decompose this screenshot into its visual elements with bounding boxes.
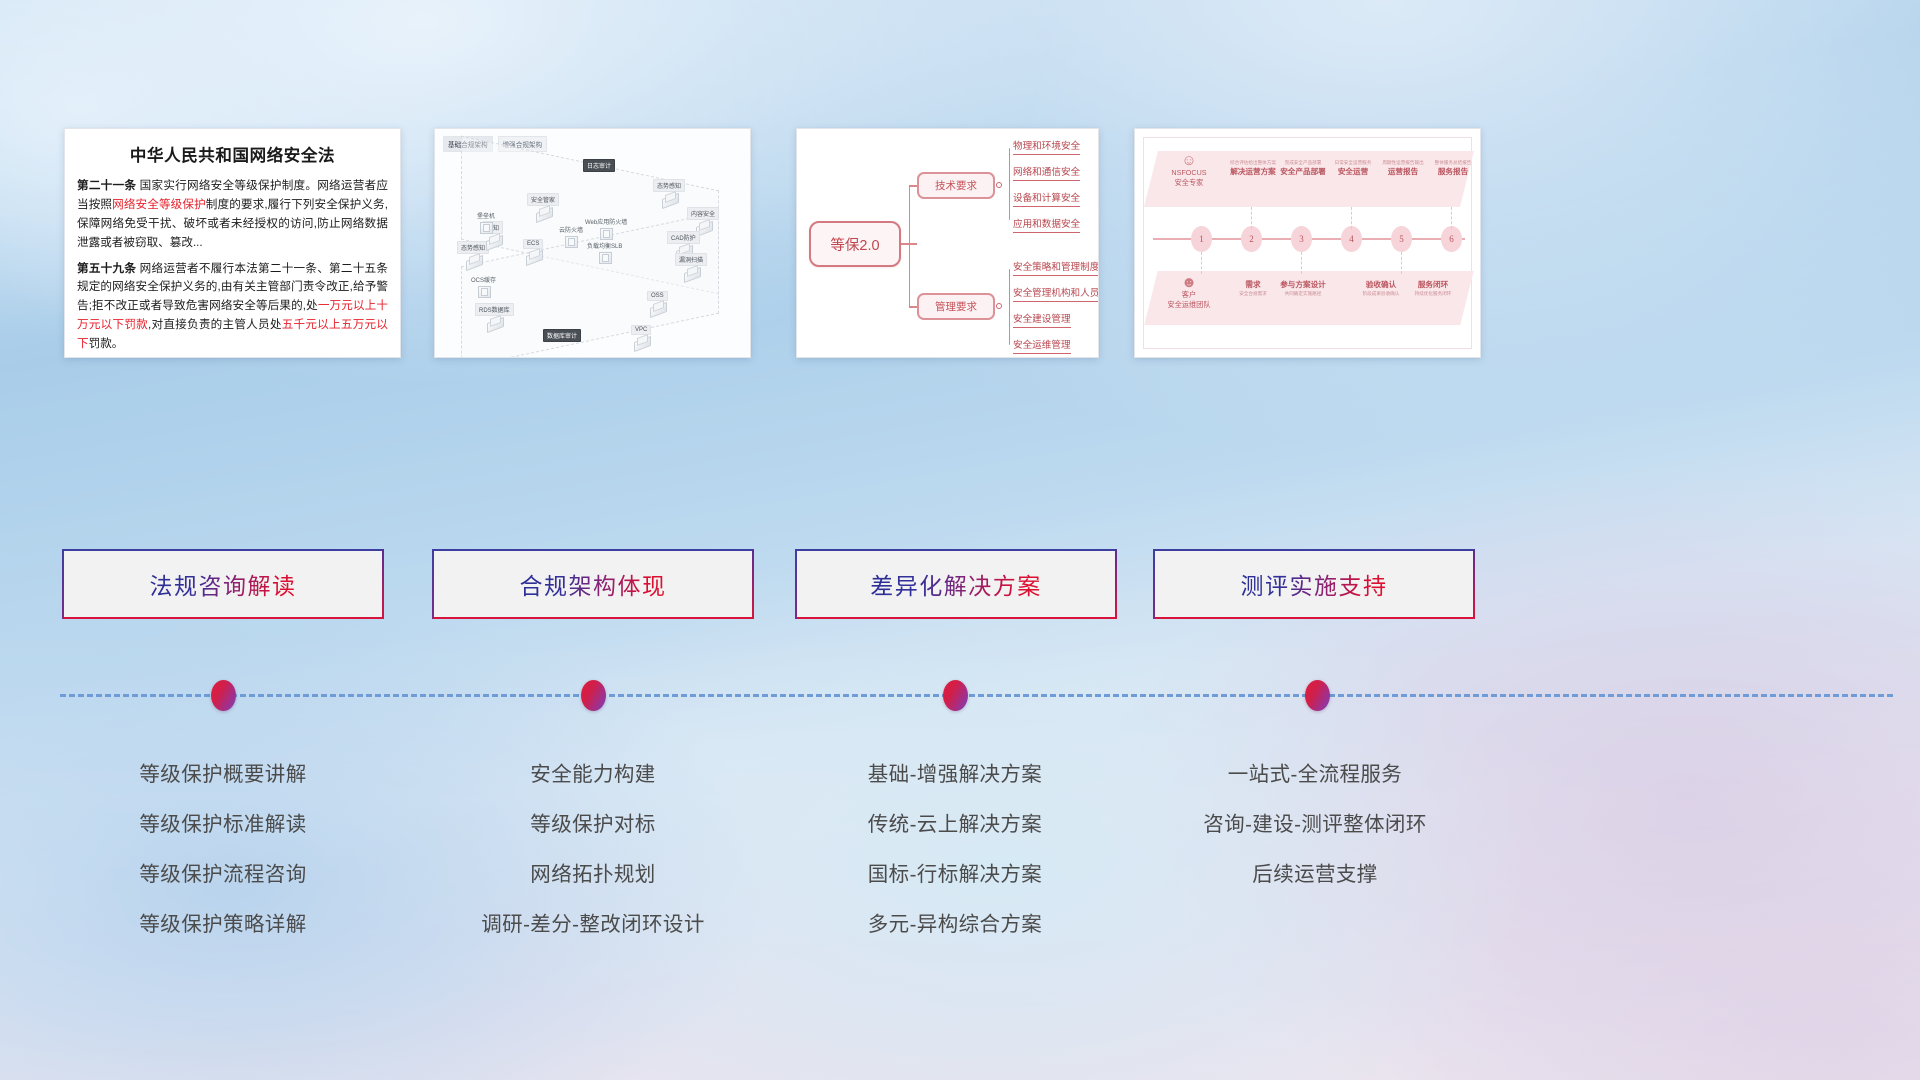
timeline-step-stem [1301, 252, 1302, 274]
detail-item: 网络拓扑规划 [428, 850, 758, 900]
cloud-cube-icon [466, 255, 481, 266]
timeline-step-title: 需求 [1227, 279, 1279, 290]
cloud-cube-icon [536, 207, 551, 218]
architecture-node: VPC [631, 325, 651, 347]
mindmap-root-node: 等保2.0 [809, 221, 901, 267]
mindmap-leaf: 网络和通信安全 [1013, 167, 1080, 181]
detail-item: 等级保护标准解读 [58, 800, 388, 850]
cloud-cube-icon [650, 302, 665, 313]
timeline-step-title: 参与方案设计 [1277, 279, 1329, 290]
architecture-node-label: 云防火墙 [559, 225, 583, 234]
architecture-node-label: RDS数据库 [475, 303, 514, 316]
card-service-timeline[interactable]: ☺ NSFOCUS 安全专家 ☻ 客户 安全运维团队 综合评估给出整体方案解决运… [1134, 128, 1481, 358]
architecture-node-label: Web应用防火墙 [585, 217, 627, 226]
law-title: 中华人民共和国网络安全法 [65, 142, 400, 166]
architecture-node: 安全管家 [527, 193, 559, 218]
persona-line-1: NSFOCUS [1157, 168, 1221, 178]
detail-item: 后续运营支撑 [1150, 850, 1480, 900]
detail-item: 咨询-建设-测评整体闭环 [1150, 800, 1480, 850]
law-body: 第二十一条 国家实行网络安全等级保护制度。网络运营者应当按照网络安全等级保护制度… [65, 177, 400, 354]
label-box-assessment-support[interactable]: 测评实施支持 [1155, 549, 1473, 619]
label-text: 差异化解决方案 [870, 567, 1042, 601]
law-article-number: 第五十九条 [77, 262, 136, 275]
architecture-node: 堡垒机 [477, 211, 495, 234]
timeline-step-title: 验收确认 [1355, 279, 1407, 290]
timeline-step-title: 服务闭环 [1407, 279, 1459, 290]
architecture-node: 态势感知 [653, 179, 685, 204]
card-law-excerpt[interactable]: 中华人民共和国网络安全法 第二十一条 国家实行网络安全等级保护制度。网络运营者应… [64, 128, 401, 358]
architecture-node-label: 安全管家 [527, 193, 559, 206]
persona-line-1: 客户 [1157, 290, 1221, 300]
user-star-icon: ☺ [1157, 153, 1221, 168]
server-box-icon [599, 227, 613, 240]
mindmap-spine [909, 243, 910, 306]
timeline-step-title: 解决运营方案 [1227, 166, 1279, 177]
cloud-cube-icon [662, 193, 677, 204]
mindmap-spine [909, 185, 910, 245]
timeline-step-bottom: 参与方案设计共同确定实施路径 [1277, 279, 1329, 297]
mindmap-branch-dot [996, 303, 1002, 309]
timeline-step-stem [1451, 207, 1452, 229]
card-cloud-architecture[interactable]: 基础合规架构增强合规架构 态势感知先知安全管家日志审计态势感知内容安全堡垒机We… [434, 128, 751, 358]
timeline-step-number: 6 [1441, 226, 1462, 252]
server-box-icon [477, 285, 491, 298]
mindmap-leaf-spine [1009, 148, 1010, 220]
law-article-number: 第二十一条 [77, 179, 136, 192]
timeline-step-top: 综合评估给出整体方案解决运营方案 [1227, 159, 1279, 177]
timeline-step-number: 1 [1191, 226, 1212, 252]
architecture-node-label: 态势感知 [653, 179, 685, 192]
timeline-step-title: 安全运营 [1327, 166, 1379, 177]
label-text: 法规咨询解读 [150, 567, 297, 601]
timeline-step-bottom: 验收确认阶段成果验收确认 [1355, 279, 1407, 297]
architecture-node-label: OSS [647, 291, 668, 301]
law-run: 罚款。 [89, 337, 124, 350]
timeline-marker-dot[interactable] [581, 680, 606, 711]
architecture-node: 内容安全 [687, 207, 719, 232]
server-box-icon [479, 221, 493, 234]
timeline-step-number: 2 [1241, 226, 1262, 252]
persona-line-2: 安全专家 [1157, 178, 1221, 188]
architecture-node-label: 日志审计 [583, 159, 615, 172]
timeline-marker-dot[interactable] [943, 680, 968, 711]
label-box-regulation-consulting[interactable]: 法规咨询解读 [64, 549, 382, 619]
architecture-node: 数据库审计 [543, 329, 581, 342]
timeline-persona-customer: ☻ 客户 安全运维团队 [1157, 275, 1221, 311]
label-text: 合规架构体现 [520, 567, 667, 601]
architecture-node-label: VPC [631, 325, 651, 335]
architecture-node: Web应用防火墙 [585, 217, 627, 240]
detail-column-architecture: 安全能力构建等级保护对标网络拓扑规划调研-差分-整改闭环设计 [428, 750, 758, 950]
mindmap-leaf: 安全建设管理 [1013, 314, 1071, 328]
law-run-highlight: 网络安全等级保护 [112, 198, 206, 211]
user-check-icon: ☻ [1157, 275, 1221, 290]
timeline-canvas: ☺ NSFOCUS 安全专家 ☻ 客户 安全运维团队 综合评估给出整体方案解决运… [1135, 129, 1480, 357]
detail-item: 等级保护策略详解 [58, 900, 388, 950]
timeline-dashed-line [60, 694, 1893, 697]
detail-item: 多元-异构综合方案 [790, 900, 1120, 950]
detail-item: 等级保护流程咨询 [58, 850, 388, 900]
timeline-step-title: 运营报告 [1377, 166, 1429, 177]
timeline-step-bottom: 服务闭环持续优化服务闭环 [1407, 279, 1459, 297]
mindmap-leaf: 安全管理机构和人员 [1013, 288, 1099, 302]
mindmap-leaf-spine [1009, 269, 1010, 345]
architecture-node: 负载均衡SLB [587, 241, 622, 264]
detail-item: 等级保护概要讲解 [58, 750, 388, 800]
mindmap-branch-technical: 技术要求 [917, 172, 995, 199]
server-box-icon [564, 235, 578, 248]
timeline-step-title: 安全产品部署 [1277, 166, 1329, 177]
architecture-node: 云防火墙 [559, 225, 583, 248]
architecture-node-label: 数据库审计 [543, 329, 581, 342]
detail-item: 一站式-全流程服务 [1150, 750, 1480, 800]
timeline-step-number: 3 [1291, 226, 1312, 252]
timeline-persona-expert: ☺ NSFOCUS 安全专家 [1157, 153, 1221, 189]
timeline-step-desc: 共同确定实施路径 [1277, 291, 1329, 297]
detail-item: 等级保护对标 [428, 800, 758, 850]
timeline-step-desc: 安全合规需求 [1227, 291, 1279, 297]
mindmap-leaf: 应用和数据安全 [1013, 219, 1080, 233]
cloud-cube-icon [487, 317, 502, 328]
timeline-step-title: 服务报告 [1427, 166, 1479, 177]
cloud-cube-icon [486, 235, 501, 246]
cloud-cube-icon [634, 336, 649, 347]
architecture-node-label: 漏洞扫描 [675, 253, 707, 266]
mindmap-leaf: 设备和计算安全 [1013, 193, 1080, 207]
timeline-step-top: 周期性运营报告输出运营报告 [1377, 159, 1429, 177]
detail-item: 安全能力构建 [428, 750, 758, 800]
mindmap-canvas: 等保2.0 技术要求 管理要求 物理和环境安全 网络和通信安全 设备和计算安全 … [797, 129, 1098, 357]
law-paragraph: 第五十九条 网络运营者不履行本法第二十一条、第二十五条规定的网络安全保护义务的,… [77, 260, 388, 354]
mindmap-leaf: 物理和环境安全 [1013, 141, 1080, 155]
timeline-step-desc: 阶段成果验收确认 [1355, 291, 1407, 297]
architecture-node-label: ECS [523, 239, 543, 249]
preview-cards-row: 中华人民共和国网络安全法 第二十一条 国家实行网络安全等级保护制度。网络运营者应… [0, 0, 1920, 430]
architecture-node-label: OCS缓存 [471, 275, 496, 284]
cloud-cube-icon [684, 267, 699, 278]
timeline-marker-dot[interactable] [1305, 680, 1330, 711]
cloud-cube-icon [526, 250, 541, 261]
detail-item: 基础-增强解决方案 [790, 750, 1120, 800]
timeline-step-desc: 持续优化服务闭环 [1407, 291, 1459, 297]
law-paragraph: 第二十一条 国家实行网络安全等级保护制度。网络运营者应当按照网络安全等级保护制度… [77, 177, 388, 253]
timeline-step-top: 整体服务总结报告服务报告 [1427, 159, 1479, 177]
timeline-step-bottom: 需求安全合规需求 [1227, 279, 1279, 297]
timeline-step-top: 完成安全产品部署安全产品部署 [1277, 159, 1329, 177]
detail-column-solution: 基础-增强解决方案传统-云上解决方案国标-行标解决方案多元-异构综合方案 [790, 750, 1120, 950]
architecture-node: OSS [647, 291, 668, 313]
mindmap-branch-management: 管理要求 [917, 293, 995, 320]
label-box-differentiated-solution[interactable]: 差异化解决方案 [797, 549, 1115, 619]
mindmap-leaf: 安全策略和管理制度 [1013, 262, 1099, 276]
architecture-node-label: 负载均衡SLB [587, 241, 622, 250]
architecture-node: ECS [523, 239, 543, 261]
timeline-step-top: 日常安全运营服务安全运营 [1327, 159, 1379, 177]
card-mindmap-dengbao[interactable]: 等保2.0 技术要求 管理要求 物理和环境安全 网络和通信安全 设备和计算安全 … [796, 128, 1099, 358]
timeline-step-stem [1351, 207, 1352, 229]
mindmap-branch-dot [996, 182, 1002, 188]
server-box-icon [598, 251, 612, 264]
detail-column-regulation: 等级保护概要讲解等级保护标准解读等级保护流程咨询等级保护策略详解 [58, 750, 388, 950]
architecture-node: RDS数据库 [475, 303, 514, 328]
timeline-step-number: 4 [1341, 226, 1362, 252]
architecture-node-label: 堡垒机 [477, 211, 495, 220]
detail-item: 传统-云上解决方案 [790, 800, 1120, 850]
timeline-marker-dot[interactable] [211, 680, 236, 711]
architecture-node-label: CAD防护 [667, 231, 700, 244]
timeline-step-stem [1201, 252, 1202, 274]
detail-item: 调研-差分-整改闭环设计 [428, 900, 758, 950]
timeline-step-stem [1401, 252, 1402, 274]
architecture-canvas: 基础合规架构增强合规架构 态势感知先知安全管家日志审计态势感知内容安全堡垒机We… [435, 129, 750, 357]
label-box-compliance-architecture[interactable]: 合规架构体现 [434, 549, 752, 619]
timeline-step-stem [1251, 207, 1252, 229]
detail-column-assessment: 一站式-全流程服务咨询-建设-测评整体闭环后续运营支撑 [1150, 750, 1480, 900]
persona-line-2: 安全运维团队 [1157, 300, 1221, 310]
detail-item: 国标-行标解决方案 [790, 850, 1120, 900]
mindmap-leaf: 安全运维管理 [1013, 340, 1071, 354]
architecture-node: 日志审计 [583, 159, 615, 172]
label-text: 测评实施支持 [1241, 567, 1388, 601]
architecture-node: OCS缓存 [471, 275, 496, 298]
architecture-node: 漏洞扫描 [675, 253, 707, 278]
law-run: ,对直接负责的主管人员处 [148, 318, 282, 331]
timeline-step-number: 5 [1391, 226, 1412, 252]
architecture-node-label: 内容安全 [687, 207, 719, 220]
